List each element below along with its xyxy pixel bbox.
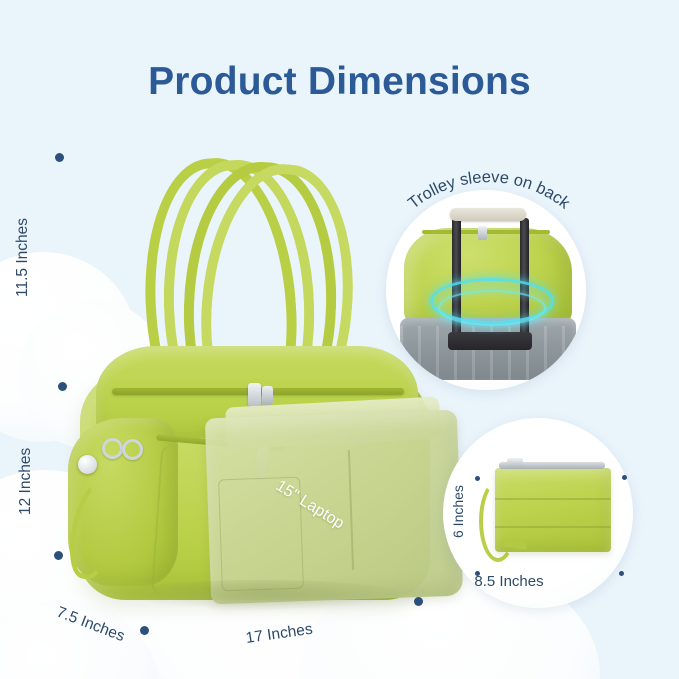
pouch-dimension-height: 6 Inches <box>450 485 466 538</box>
dimension-label-front-width: 17 Inches <box>245 621 314 648</box>
pouch-seam <box>495 498 611 500</box>
dimension-label-height: 11.5 Inches <box>14 218 32 297</box>
infographic-canvas: Product Dimensions 15" Laptop 11.5 Inche… <box>0 0 679 679</box>
decorative-dot <box>475 476 480 481</box>
zipper-pull-icon <box>507 458 523 467</box>
zipper-pull-icon <box>262 386 273 405</box>
trolley-caption: Trolley sleeve on back <box>376 150 601 260</box>
trolley-handle-base <box>448 332 532 350</box>
sleeve-glow-highlight <box>438 290 546 326</box>
decorative-dot <box>58 382 67 391</box>
decorative-dot <box>622 475 627 480</box>
decorative-dot <box>54 551 63 560</box>
pouch-dimension-width: 8.5 Inches <box>474 573 543 590</box>
zipper-pull-icon <box>248 383 261 407</box>
decorative-dot <box>55 153 64 162</box>
decorative-dot <box>475 571 480 576</box>
decorative-dot <box>619 571 624 576</box>
page-title: Product Dimensions <box>0 60 679 104</box>
d-ring-icon <box>102 438 123 459</box>
decorative-dot <box>414 597 423 606</box>
pouch-seam <box>495 526 611 528</box>
bag-shadow <box>116 580 406 610</box>
dimension-label-depth: 12 Inches <box>17 448 35 515</box>
snap-button-icon <box>78 455 97 474</box>
trolley-caption-text: Trolley sleeve on back <box>405 168 574 213</box>
d-ring-icon <box>122 439 143 460</box>
decorative-dot <box>140 626 149 635</box>
